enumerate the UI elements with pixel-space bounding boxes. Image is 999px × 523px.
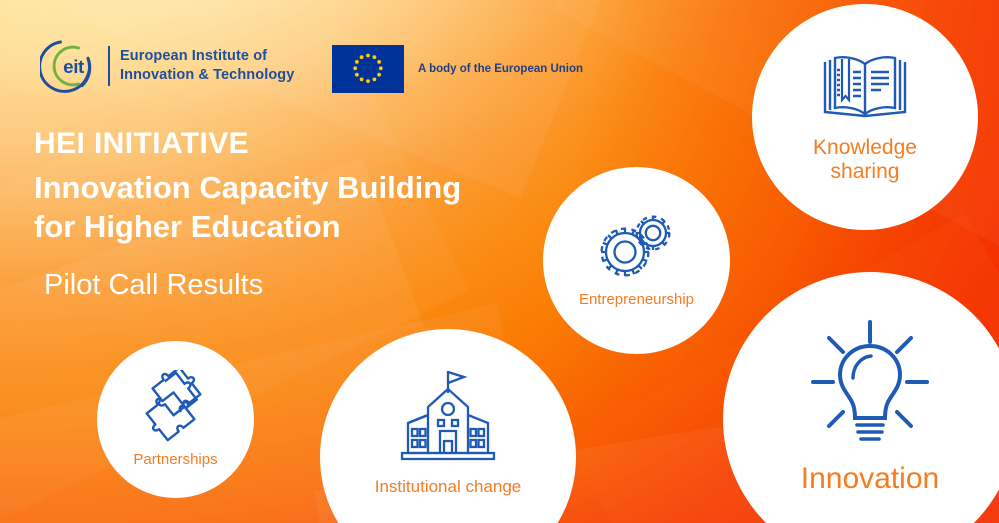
headline-block: HEI INITIATIVE Innovation Capacity Build… bbox=[34, 128, 594, 302]
lightbulb-icon bbox=[807, 316, 933, 448]
page-title: Innovation Capacity Building for Higher … bbox=[34, 168, 594, 246]
pillar-label: Partnerships bbox=[133, 452, 217, 469]
school-building-icon bbox=[396, 367, 500, 461]
headline-kicker: HEI INITIATIVE bbox=[34, 128, 594, 160]
eit-logo: eit European Institute of Innovation & T… bbox=[40, 36, 294, 96]
open-book-icon bbox=[819, 50, 911, 122]
puzzle-pieces-icon bbox=[139, 370, 213, 444]
svg-text:eit: eit bbox=[63, 56, 85, 77]
eu-emblem-caption: A body of the European Union bbox=[418, 63, 583, 75]
gears-icon bbox=[599, 212, 675, 278]
eu-emblem: A body of the European Union bbox=[332, 45, 583, 93]
pillar-label: Entrepreneurship bbox=[579, 292, 694, 309]
eit-logo-icon: eit bbox=[40, 36, 100, 96]
pillar-label: Institutional change bbox=[375, 477, 522, 496]
pillar-entrepreneurship[interactable]: Entrepreneurship bbox=[543, 167, 730, 354]
pillar-label: Knowledge sharing bbox=[813, 136, 917, 183]
pillar-partnerships[interactable]: Partnerships bbox=[97, 341, 254, 498]
poster-canvas: eit European Institute of Innovation & T… bbox=[0, 0, 999, 523]
pillar-knowledge-sharing[interactable]: Knowledge sharing bbox=[752, 4, 978, 230]
eu-stars-icon bbox=[332, 45, 404, 93]
eit-logo-wordmark: European Institute of Innovation & Techn… bbox=[120, 47, 294, 84]
eit-name-line-1: European Institute of bbox=[120, 47, 294, 66]
eu-flag-icon bbox=[332, 45, 404, 93]
eit-name-line-2: Innovation & Technology bbox=[120, 66, 294, 85]
headline-subtitle: Pilot Call Results bbox=[44, 270, 594, 302]
pillar-label: Innovation bbox=[801, 462, 939, 496]
eit-logo-divider bbox=[108, 46, 110, 86]
